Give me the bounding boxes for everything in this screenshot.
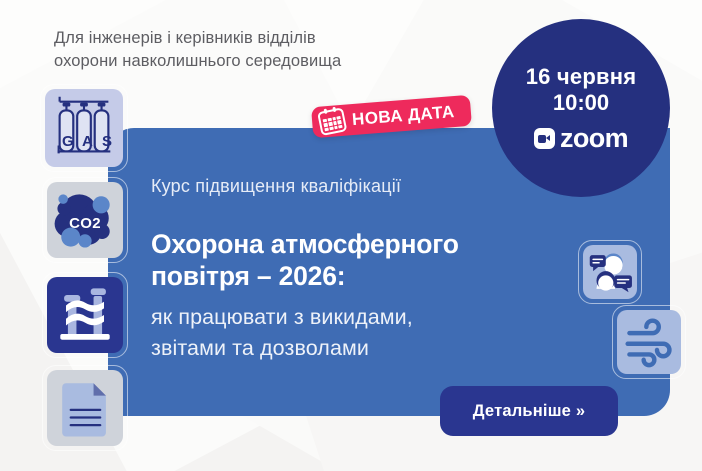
course-kicker: Курс підвищення кваліфікації: [151, 176, 401, 197]
calendar-icon: [317, 107, 347, 136]
document-icon-glyph: [47, 370, 123, 446]
gas-letter-g: G: [62, 133, 74, 150]
factory-icon-inner: [47, 277, 123, 353]
calendar-ring-left: [324, 109, 328, 114]
webinar-banner: Для інженерів і керівників відділів охор…: [0, 0, 702, 471]
gas-icon-glyph: [45, 89, 123, 167]
page-subtitle: як працювати з викидами, звітами та дозв…: [151, 302, 571, 364]
factory-smokestack-icon: [42, 272, 128, 358]
zoom-wordmark: zoom: [560, 125, 628, 152]
new-date-badge-label: НОВА ДАТА: [351, 102, 455, 130]
webinar-time: 10:00: [553, 90, 609, 116]
gas-icon-inner: G A S: [45, 89, 123, 167]
co2-cloud-icon: CO2: [42, 177, 128, 263]
co2-icon-label: CO2: [47, 215, 123, 232]
details-button[interactable]: Детальніше »: [440, 386, 618, 436]
document-icon: [42, 365, 128, 451]
calendar-ring-right: [332, 107, 336, 112]
wind-icon: [612, 305, 686, 379]
discussion-people-icon: [578, 240, 642, 304]
wind-icon-glyph: [617, 310, 681, 374]
factory-icon-glyph: [47, 277, 123, 353]
zoom-logo: zoom: [534, 125, 628, 152]
wind-icon-inner: [617, 310, 681, 374]
audience-header-text: Для інженерів і керівників відділів охор…: [54, 27, 474, 73]
document-icon-inner: [47, 370, 123, 446]
page-title: Охорона атмосферного повітря – 2026:: [151, 228, 571, 292]
chat-icon-glyph: [583, 245, 637, 299]
gas-cylinders-icon: G A S: [40, 84, 128, 172]
zoom-camera-icon: [534, 128, 555, 149]
gas-letter-a: A: [82, 133, 93, 150]
co2-icon-inner: CO2: [47, 182, 123, 258]
chat-icon-inner: [583, 245, 637, 299]
gas-letter-s: S: [102, 133, 112, 150]
calendar-grid: [323, 116, 343, 131]
webinar-date: 16 червня: [526, 64, 636, 90]
webinar-datetime-circle: 16 червня 10:00 zoom: [492, 19, 670, 197]
